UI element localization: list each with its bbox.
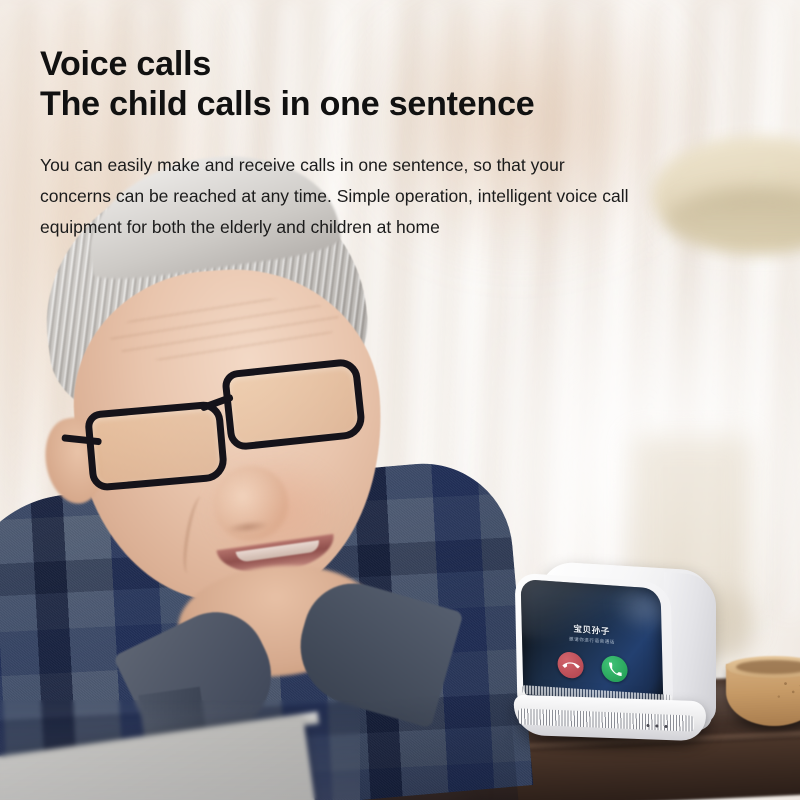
accept-call-button[interactable] — [601, 655, 628, 683]
body-paragraph: You can easily make and receive calls in… — [40, 150, 630, 243]
foreground-blur — [0, 700, 360, 800]
eyeglass-lens-left — [84, 400, 228, 492]
promo-banner: 时事纵横 3 宝贝孙子 邀请你进行语音通话 — [0, 0, 800, 800]
headline-line-1: Voice calls — [40, 44, 660, 84]
eyeglass-lens-right — [221, 357, 367, 451]
phone-icon — [608, 662, 621, 676]
smart-speaker-device: 宝贝孙子 邀请你进行语音通话 — [498, 562, 716, 752]
headline-line-2: The child calls in one sentence — [40, 84, 660, 124]
phone-hangup-icon — [561, 656, 579, 674]
decline-call-button[interactable] — [557, 651, 584, 679]
call-action-buttons — [522, 648, 663, 686]
marketing-copy: Voice calls The child calls in one sente… — [40, 44, 660, 243]
